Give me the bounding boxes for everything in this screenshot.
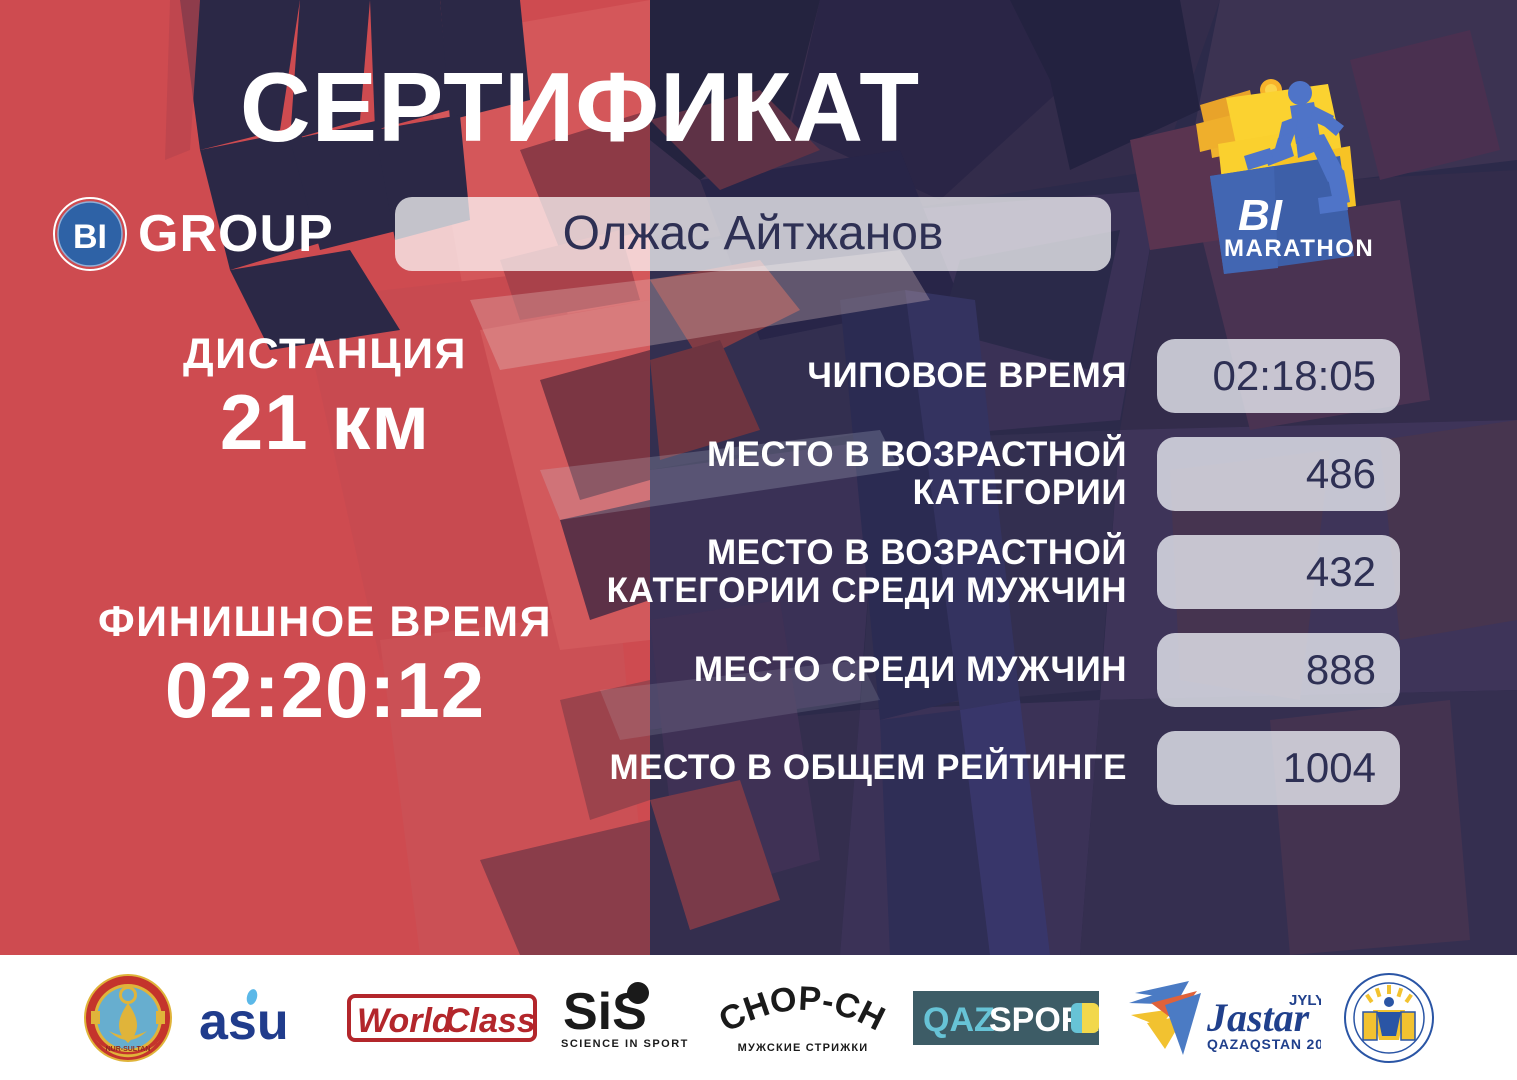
sis-word-2: SCIENCE IN SPORT — [561, 1038, 689, 1050]
stat-value-box: 888 — [1157, 633, 1400, 707]
sis-logo-icon: SiS SCIENCE IN SPORT — [559, 981, 694, 1055]
chop-chop-logo-icon: CHOP-CHOP МУЖСКИЕ СТРИЖКИ — [716, 981, 891, 1055]
qazsport-logo-icon: QAZ SPORT — [913, 991, 1099, 1045]
marathon-logo-word: MARATHON — [1224, 235, 1374, 262]
results-stats-list: ЧИПОВОЕ ВРЕМЯ 02:18:05 МЕСТО В ВОЗРАСТНО… — [520, 336, 1400, 826]
stat-row: МЕСТО В ВОЗРАСТНОЙ КАТЕГОРИИ СРЕДИ МУЖЧИ… — [520, 532, 1400, 612]
world-class-word-1: World — [357, 1002, 454, 1040]
stat-value: 432 — [1306, 551, 1376, 593]
bi-group-logo: BI GROUP — [52, 196, 334, 272]
stat-label: МЕСТО В ВОЗРАСТНОЙ КАТЕГОРИИ СРЕДИ МУЖЧИ… — [520, 534, 1157, 610]
bi-badge-icon: BI — [52, 196, 128, 272]
asu-logo-icon: asu — [195, 985, 325, 1051]
stat-label: ЧИПОВОЕ ВРЕМЯ — [520, 357, 1157, 395]
nur-sultan-emblem-icon: NUR-SULTAN — [83, 973, 173, 1063]
sponsor-nur-sultan: NUR-SULTAN — [83, 973, 173, 1063]
chop-chop-word-1: CHOP-CHOP — [716, 981, 891, 1040]
certificate-page: СЕРТИФИКАТ BI GROUP Олжас Айтжанов — [0, 0, 1517, 1080]
ministry-emblem-icon — [1343, 972, 1435, 1064]
sponsor-jastar-jyly: Jastar JYLY QAZAQSTAN 2019 — [1121, 975, 1321, 1061]
sponsor-ministry — [1343, 972, 1435, 1064]
stat-value-box: 486 — [1157, 437, 1400, 511]
marathon-logo-bi: BI — [1238, 191, 1283, 240]
stat-row: МЕСТО В ВОЗРАСТНОЙ КАТЕГОРИИ 486 — [520, 434, 1400, 514]
stat-row: ЧИПОВОЕ ВРЕМЯ 02:18:05 — [520, 336, 1400, 416]
stat-value: 1004 — [1283, 747, 1376, 789]
stat-row: МЕСТО В ОБЩЕМ РЕЙТИНГЕ 1004 — [520, 728, 1400, 808]
world-class-word-2: Class — [445, 1002, 536, 1040]
sponsor-asu: asu — [195, 985, 325, 1051]
bi-group-label: GROUP — [138, 208, 334, 260]
jastar-jyly-logo-icon: Jastar JYLY QAZAQSTAN 2019 — [1121, 975, 1321, 1061]
stat-value-box: 1004 — [1157, 731, 1400, 805]
sponsor-chop-chop: CHOP-CHOP МУЖСКИЕ СТРИЖКИ — [716, 981, 891, 1055]
jyly-word: JYLY — [1289, 992, 1321, 1009]
stat-label: МЕСТО В ОБЩЕМ РЕЙТИНГЕ — [520, 749, 1157, 787]
world-class-logo-icon: World Class — [347, 988, 537, 1048]
stat-label: МЕСТО СРЕДИ МУЖЧИН — [520, 651, 1157, 689]
stat-value: 486 — [1306, 453, 1376, 495]
page-title: СЕРТИФИКАТ — [0, 58, 1160, 156]
asu-label: asu — [199, 993, 289, 1051]
sponsor-world-class: World Class — [347, 988, 537, 1048]
stat-value: 888 — [1306, 649, 1376, 691]
stat-value: 02:18:05 — [1213, 355, 1377, 397]
participant-name: Олжас Айтжанов — [563, 210, 944, 258]
nur-sultan-label: NUR-SULTAN — [105, 1046, 150, 1053]
participant-name-box: Олжас Айтжанов — [395, 197, 1111, 271]
svg-text:BI: BI — [73, 218, 107, 256]
chop-chop-word-2: МУЖСКИЕ СТРИЖКИ — [737, 1042, 868, 1054]
stat-row: МЕСТО СРЕДИ МУЖЧИН 888 — [520, 630, 1400, 710]
sponsor-logos-bar: NUR-SULTAN asu World Class SiS SCIENCE I… — [0, 955, 1517, 1080]
stat-value-box: 432 — [1157, 535, 1400, 609]
stat-value-box: 02:18:05 — [1157, 339, 1400, 413]
bi-marathon-logo: BI MARATHON — [1178, 60, 1378, 300]
sponsor-qazsport: QAZ SPORT — [913, 991, 1099, 1045]
qazaqstan-2019-word: QAZAQSTAN 2019 — [1207, 1036, 1321, 1052]
sponsor-sis: SiS SCIENCE IN SPORT — [559, 981, 694, 1055]
qazsport-word-1: QAZ — [923, 1001, 995, 1039]
stat-label: МЕСТО В ВОЗРАСТНОЙ КАТЕГОРИИ — [520, 436, 1157, 512]
